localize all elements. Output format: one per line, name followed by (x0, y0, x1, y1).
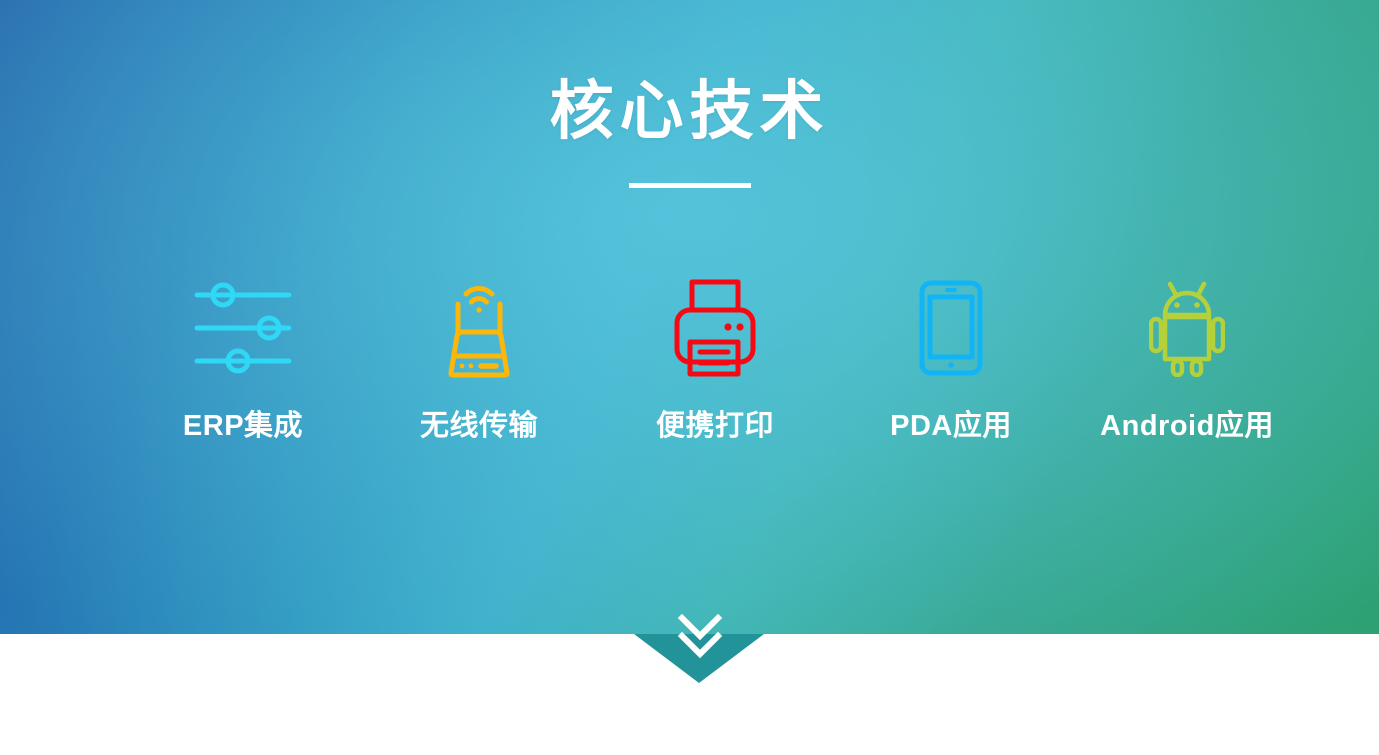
banner-triangle (634, 634, 764, 683)
feature-item-printer[interactable]: 便携打印 (622, 276, 808, 444)
feature-label-wireless: 无线传输 (420, 402, 538, 444)
feature-label-erp: ERP集成 (183, 402, 303, 444)
android-robot-icon (1149, 276, 1225, 380)
sliders-icon (193, 276, 293, 380)
feature-label-pda: PDA应用 (890, 402, 1012, 444)
feature-label-android: Android应用 (1100, 402, 1274, 444)
feature-label-printer: 便携打印 (656, 402, 774, 444)
feature-item-erp[interactable]: ERP集成 (150, 276, 336, 444)
wifi-router-icon (436, 276, 522, 380)
page-root: 核心技术 ERP集成 (0, 0, 1379, 755)
feature-item-pda[interactable]: PDA应用 (858, 276, 1044, 444)
printer-icon (673, 276, 757, 380)
title-block: 核心技术 (0, 78, 1379, 188)
feature-item-android[interactable]: Android应用 (1094, 276, 1280, 444)
scroll-down-banner[interactable] (634, 634, 765, 684)
feature-list: ERP集成 (150, 276, 1280, 444)
hero-section: 核心技术 ERP集成 (0, 0, 1379, 634)
page-title: 核心技术 (0, 78, 1379, 145)
feature-item-wireless[interactable]: 无线传输 (386, 276, 572, 444)
title-divider (629, 183, 751, 188)
tablet-icon (919, 276, 983, 380)
